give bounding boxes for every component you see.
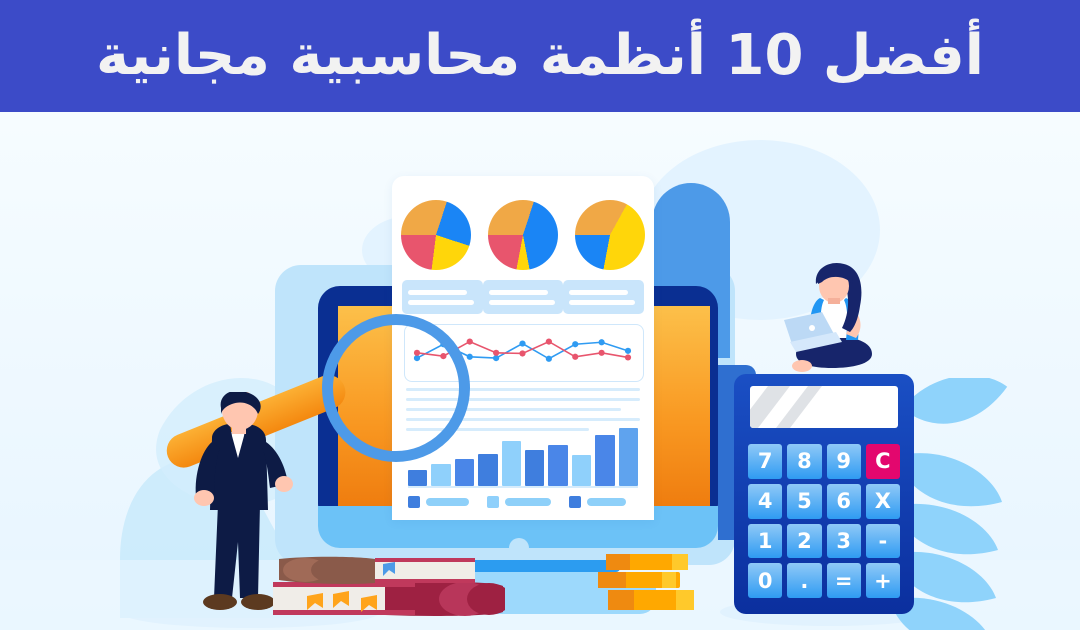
calculator-key-4[interactable]: 4 bbox=[748, 484, 782, 519]
calculator-key-c[interactable]: C bbox=[866, 444, 900, 479]
calculator-key-equals[interactable]: = bbox=[827, 563, 861, 598]
kpi-card-group bbox=[402, 280, 644, 314]
legend-item-1-swatch bbox=[408, 496, 420, 508]
bar-8 bbox=[572, 455, 591, 486]
legend-item-2-label bbox=[505, 498, 551, 506]
calculator-key-5[interactable]: 5 bbox=[787, 484, 821, 519]
bar-4 bbox=[478, 454, 497, 486]
kpi-card-2 bbox=[483, 280, 564, 314]
bar-chart-legend bbox=[408, 496, 638, 508]
kpi-card-3 bbox=[563, 280, 644, 314]
calculator-key-3[interactable]: 3 bbox=[827, 524, 861, 559]
bar-9 bbox=[595, 435, 614, 486]
placeholder-line bbox=[408, 290, 467, 295]
pie-chart-3 bbox=[575, 200, 645, 270]
calculator-key-plus[interactable]: + bbox=[866, 563, 900, 598]
bar-1 bbox=[408, 470, 427, 486]
legend-item-1-label bbox=[426, 498, 469, 506]
legend-item-3-label bbox=[587, 498, 626, 506]
calculator-display[interactable] bbox=[750, 386, 898, 428]
calculator-display-glare bbox=[750, 386, 898, 428]
calculator-key-x[interactable]: X bbox=[866, 484, 900, 519]
page-title: أفضل 10 أنظمة محاسبية مجانية bbox=[96, 28, 984, 84]
bar-10 bbox=[619, 428, 638, 486]
title-banner: أفضل 10 أنظمة محاسبية مجانية bbox=[0, 0, 1080, 112]
calculator-key-8[interactable]: 8 bbox=[787, 444, 821, 479]
calculator-key-1[interactable]: 1 bbox=[748, 524, 782, 559]
coin-stack bbox=[596, 552, 700, 614]
calculator-key-0[interactable]: 0 bbox=[748, 563, 782, 598]
book-stack bbox=[265, 552, 505, 618]
placeholder-line bbox=[569, 300, 635, 305]
bar-7 bbox=[548, 445, 567, 486]
calculator-key-6[interactable]: 6 bbox=[827, 484, 861, 519]
bar-chart-baseline bbox=[408, 486, 638, 488]
pie-chart-group bbox=[392, 194, 654, 276]
bar-2 bbox=[431, 464, 450, 486]
woman-with-laptop-figure bbox=[778, 262, 890, 380]
legend-item-3-swatch bbox=[569, 496, 581, 508]
placeholder-line bbox=[489, 290, 548, 295]
bar-5 bbox=[502, 441, 521, 486]
placeholder-line bbox=[408, 300, 474, 305]
bar-3 bbox=[455, 459, 474, 486]
bar-6 bbox=[525, 450, 544, 486]
monitor-power-button[interactable] bbox=[509, 538, 529, 558]
calculator-keypad[interactable]: 789C456X123-0.=+ bbox=[748, 444, 900, 598]
pie-chart-2 bbox=[488, 200, 558, 270]
calculator-key-9[interactable]: 9 bbox=[827, 444, 861, 479]
calculator-key-7[interactable]: 7 bbox=[748, 444, 782, 479]
placeholder-line bbox=[569, 290, 628, 295]
calculator-key-minus[interactable]: - bbox=[866, 524, 900, 559]
magnifier-lens-ring bbox=[322, 314, 470, 462]
legend-item-2-swatch bbox=[487, 496, 499, 508]
calculator-key-2[interactable]: 2 bbox=[787, 524, 821, 559]
placeholder-line bbox=[489, 300, 555, 305]
pie-chart-1 bbox=[401, 200, 471, 270]
illustration-canvas: 789C456X123-0.=+ أفضل 10 أنظم bbox=[0, 0, 1080, 630]
kpi-card-1 bbox=[402, 280, 483, 314]
calculator-key-dot[interactable]: . bbox=[787, 563, 821, 598]
